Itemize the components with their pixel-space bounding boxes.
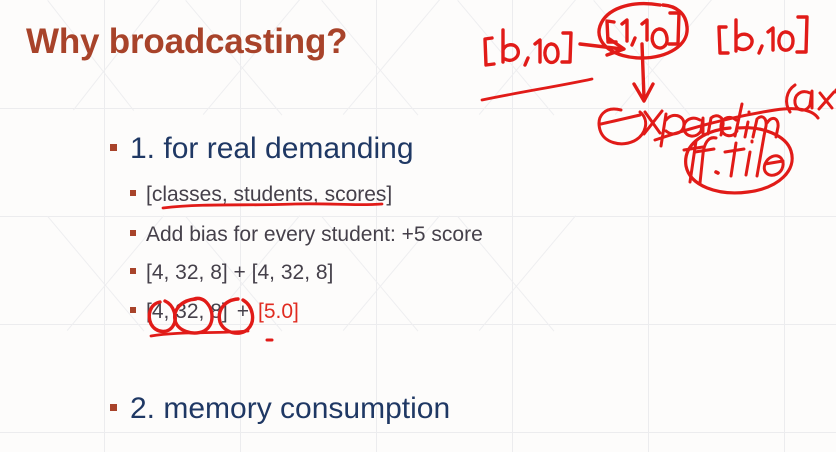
ink-word-expand-m [753, 117, 778, 137]
ink-down-arrow-head [634, 84, 653, 101]
bullet-item-2-label: 2. memory consumption [130, 392, 450, 426]
ink-digit-1-left [535, 40, 540, 62]
bullet-marker-square [130, 190, 136, 196]
ink-word-expand-e [599, 109, 646, 144]
ink-word-tftile-e [764, 156, 783, 176]
ink-down-arrow-shaft [642, 44, 644, 98]
ink-circle-mid-shape [599, 4, 687, 58]
ink-comma-mid [632, 38, 635, 45]
sub-bullet-add-bias: Add bias for every student: +5 score [130, 223, 483, 247]
bullet-marker-square [130, 268, 136, 274]
bullet-item-1-label: 1. for real demanding [130, 132, 414, 166]
ink-word-expand-p [661, 114, 684, 146]
sub-bullet-shapes-equal: [4, 32, 8] + [4, 32, 8] [130, 261, 333, 285]
bullet-marker-square [130, 230, 136, 236]
ink-word-expand-d [721, 104, 742, 136]
ink-letter-x-ax [819, 92, 834, 109]
ink-underline-left-shape [482, 79, 592, 100]
ink-word-tftile-f [695, 138, 716, 183]
ink-word-tftile-t [684, 141, 703, 182]
broadcast-scalar-value: [5.0] [258, 300, 299, 324]
ink-arrow-head [607, 38, 624, 55]
ink-bracket-right-close [797, 17, 807, 52]
slide-canvas: Why broadcasting? 1. for real demanding … [0, 0, 836, 452]
ink-bracket-right-open [719, 27, 728, 53]
ink-bracket-mid-close [669, 13, 679, 44]
ink-circle-tftile [686, 128, 792, 193]
slide-title: Why broadcasting? [26, 22, 347, 62]
ink-word-expand-a [684, 118, 703, 136]
ink-word-expand-n [708, 116, 723, 135]
bullet-marker-square [110, 404, 117, 411]
ink-word-expand-x [644, 111, 662, 134]
ink-bracket-left-open [485, 38, 494, 65]
broadcast-plus-operator: + [237, 300, 249, 324]
ink-digit-1b-mid [642, 20, 647, 40]
ink-comma-right [759, 46, 762, 53]
bullet-item-1: 1. for real demanding [110, 132, 414, 166]
broadcast-lhs-shape: [4, 32, 8] [146, 300, 228, 324]
bullet-marker-square [110, 144, 117, 151]
sub-bullet-broadcast-example: [4, 32, 8] + [5.0] [130, 300, 299, 324]
ink-paren-open-ax [787, 85, 795, 112]
ink-letter-a-ax [795, 91, 812, 110]
sub-bullet-classes: [classes, students, scores] [130, 183, 392, 207]
ink-digit-1-right [768, 28, 773, 50]
ink-digit-0-left [545, 44, 558, 62]
bullet-item-2: 2. memory consumption [110, 392, 450, 426]
sub-bullet-shapes-equal-label: [4, 32, 8] + [4, 32, 8] [146, 261, 333, 285]
sub-bullet-classes-label: [classes, students, scores] [146, 183, 392, 207]
ink-comma-left [525, 58, 528, 65]
ink-word-tftile-t2 [725, 143, 744, 176]
ink-underline-broadcast [151, 331, 248, 336]
ink-letter-b-left [503, 30, 518, 62]
ink-word-tftile-i [746, 141, 752, 175]
ink-arrow-shaft [580, 44, 622, 49]
ink-digit-1-mid [622, 20, 627, 41]
ink-word-tftile-dot [716, 172, 718, 173]
ink-bracket-left-close [562, 33, 571, 62]
bullet-marker-square [130, 307, 136, 313]
ink-bracket-mid-open [607, 21, 616, 42]
ink-word-expand-i [745, 112, 749, 137]
ink-letter-b-right [736, 20, 752, 51]
ink-sweep-stroke [655, 109, 818, 140]
ink-digit-0-mid [652, 29, 667, 48]
ink-digit-0-right [779, 32, 793, 50]
sub-bullet-add-bias-label: Add bias for every student: +5 score [146, 223, 483, 247]
ink-word-tftile-l [757, 136, 764, 176]
ink-word-expand-estroke [601, 115, 640, 124]
